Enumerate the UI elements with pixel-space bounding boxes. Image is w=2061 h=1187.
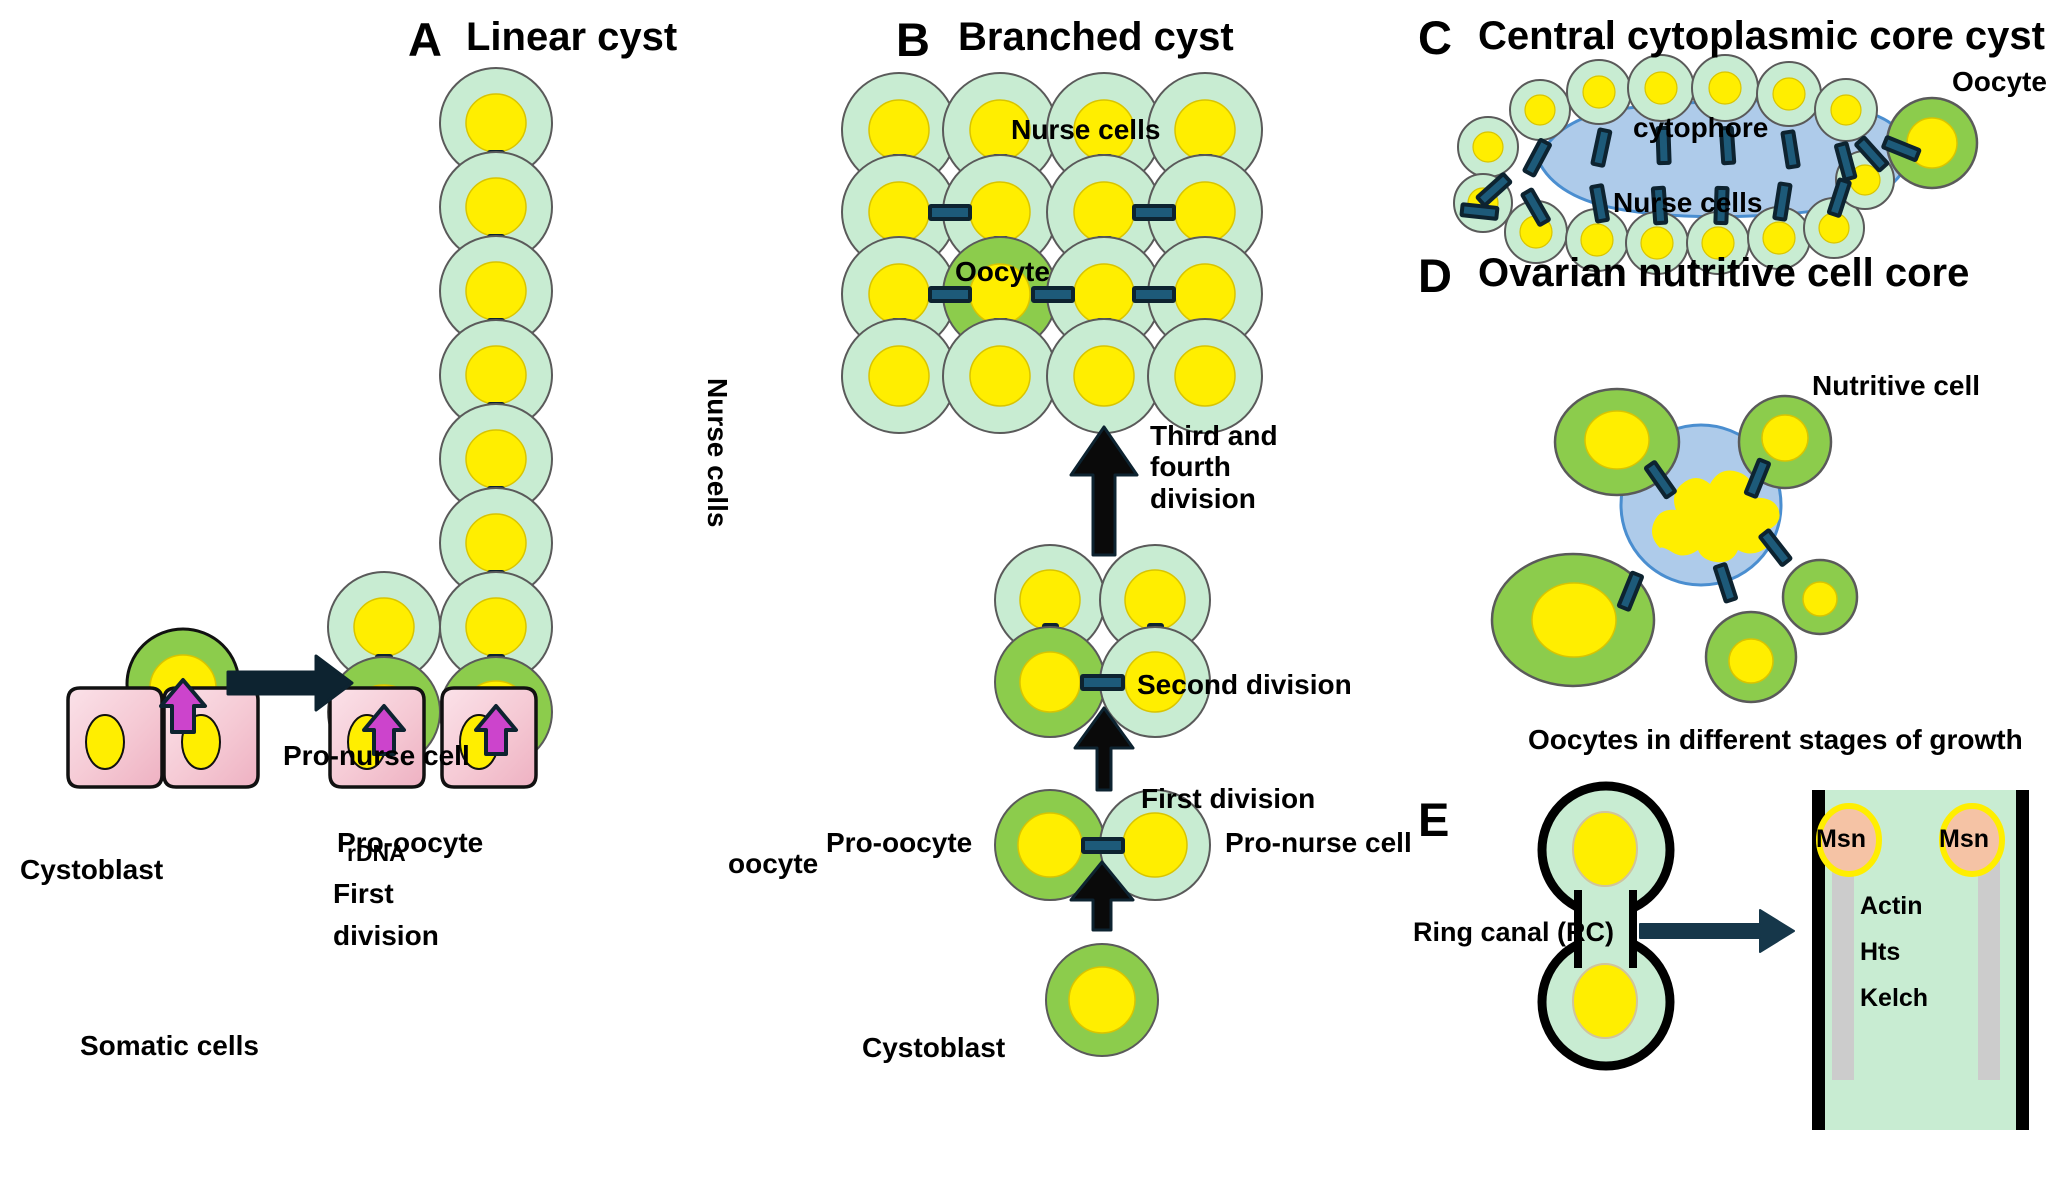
panel-d-letter: D — [1418, 248, 1452, 303]
panel-a-title: Linear cyst — [466, 15, 677, 60]
panel-a-rdna-label: rDNA — [347, 840, 406, 867]
panel-b-pro-oocyte-label: Pro-oocyte — [826, 827, 972, 859]
panel-d-title: Ovarian nutritive cell core — [1478, 251, 1969, 296]
panel-d-caption: Oocytes in different stages of growth — [1528, 724, 2023, 756]
panel-b-third-fourth-arrow — [1071, 427, 1137, 555]
panel-b-graphics — [842, 73, 1262, 1056]
panel-a-right-column — [440, 68, 552, 767]
panel-a-somatic-cells-label: Somatic cells — [80, 1030, 259, 1062]
panel-e-kelch-label: Kelch — [1860, 984, 1928, 1013]
panel-b-third-fourth-line2: fourth — [1150, 451, 1278, 482]
panel-b-nurse-cells-label: Nurse cells — [1011, 114, 1160, 146]
panel-b-oocyte-label: Oocyte — [955, 256, 1050, 288]
panel-a-first-division-line1: First — [333, 878, 394, 910]
panel-e-ring-canal-label: Ring canal (RC) — [1413, 917, 1614, 948]
panel-a-somatic-left — [68, 680, 258, 787]
figure-canvas: A Linear cyst Nurse cells Pro-nurse cell… — [0, 0, 2061, 1187]
panel-a-nurse-cells-label: Nurse cells — [701, 378, 733, 527]
panel-e-hts-label: Hts — [1860, 938, 1900, 967]
panel-b-first-division-label: First division — [1141, 783, 1315, 815]
panel-b-title: Branched cyst — [958, 15, 1234, 60]
panel-b-cystoblast-label: Cystoblast — [862, 1032, 1005, 1064]
panel-a-cystoblast-label: Cystoblast — [20, 854, 163, 886]
panel-b-second-division-label: Second division — [1137, 669, 1352, 701]
panel-b-cystoblast — [1046, 944, 1158, 1056]
panel-d-graphics — [1492, 389, 1857, 702]
panel-d-nutritive-cell-label: Nutritive cell — [1812, 370, 1980, 402]
panel-b-pro-nurse-cell-label: Pro-nurse cell — [1225, 827, 1412, 859]
diagram-graphics — [0, 0, 2061, 1187]
panel-a-first-division-line2: division — [333, 920, 439, 952]
panel-b-third-fourth-line1: Third and — [1150, 420, 1278, 451]
panel-e-letter: E — [1418, 792, 1449, 847]
panel-b-third-fourth-line3: division — [1150, 483, 1278, 514]
panel-c-nurse-cells-label: Nurse cells — [1613, 187, 1762, 219]
panel-a-graphics — [68, 68, 552, 787]
panel-a-pro-nurse-cell-label: Pro-nurse cell — [283, 740, 470, 772]
panel-c-cytophore-label: cytophore — [1633, 112, 1768, 144]
panel-c-graphics — [1454, 55, 1977, 274]
panel-e-msn-left-label: Msn — [1816, 825, 1866, 854]
panel-a-letter: A — [408, 12, 442, 67]
panel-c-title: Central cytoplasmic core cyst — [1478, 14, 2045, 59]
panel-b-letter: B — [896, 12, 930, 67]
panel-a-oocyte-label: oocyte — [728, 848, 818, 880]
panel-c-oocyte-label: Oocyte — [1952, 66, 2047, 98]
panel-c-letter: C — [1418, 10, 1452, 65]
panel-e-msn-right-label: Msn — [1939, 825, 1989, 854]
panel-e-actin-label: Actin — [1860, 892, 1923, 921]
